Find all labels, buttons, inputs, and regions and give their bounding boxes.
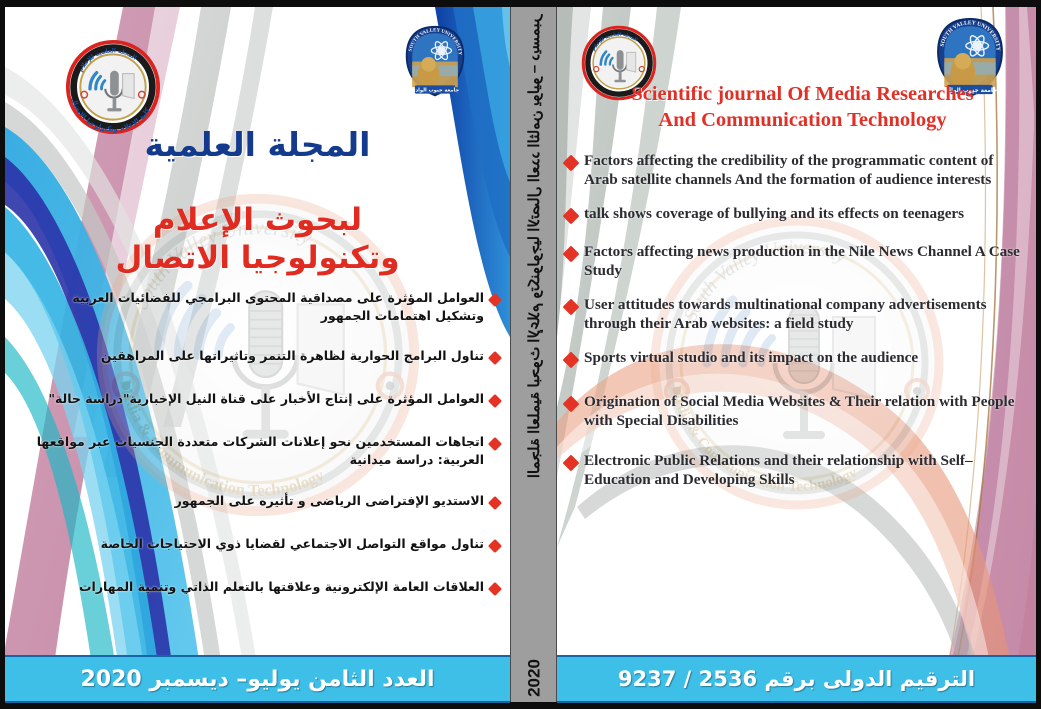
arabic-contents-item-label: تناول البرامج الحوارية لظاهرة التنمر وتا…	[101, 347, 484, 365]
english-contents-item: Origination of Social Media Websites & T…	[565, 393, 1022, 430]
issn-label: الترقيم الدولى برقم 2536 / 9237	[618, 667, 975, 691]
arabic-contents-item: الاستديو الإفتراضى الرياضى و تأثيره على …	[23, 492, 500, 513]
arabic-contents-item-label: العوامل المؤثرة على مصداقية المحتوى البر…	[23, 289, 484, 325]
arabic-contents-item-label: تناول مواقع التواصل الاجتماعي لقضايا ذوي…	[101, 535, 484, 553]
spine-title: المجلة العلمية لبحوث الإعلام وتكنولوجيا …	[527, 15, 542, 478]
journal-cover: South Valley University Media & Communic…	[0, 0, 1041, 709]
diamond-bullet-icon	[490, 538, 500, 556]
arabic-contents-item: العوامل المؤثرة على إنتاج الأخبار على قن…	[23, 390, 500, 411]
english-contents-item-label: talk shows coverage of bullying and its …	[584, 205, 964, 224]
diamond-bullet-icon	[490, 436, 500, 454]
arabic-contents-item-label: الاستديو الإفتراضى الرياضى و تأثيره على …	[175, 492, 484, 510]
faculty-logo-back: المجلة العلمية للإعلام كلية الإعلام وتكن…	[65, 39, 161, 135]
english-journal-title: Scientific journal Of Media Researches A…	[587, 81, 1018, 133]
diamond-bullet-icon	[565, 300, 577, 318]
arabic-contents-item: اتجاهات المستخدمين نحو إعلانات الشركات م…	[23, 433, 500, 469]
back-cover-footer-bar: العدد الثامن يوليو– ديسمبر 2020	[5, 655, 510, 703]
diamond-bullet-icon	[565, 247, 577, 265]
diamond-bullet-icon	[490, 581, 500, 599]
english-contents-item: Sports virtual studio and its impact on …	[565, 349, 1022, 371]
arabic-subtitle-line2: وتكنولوجيا الاتصال	[5, 240, 510, 278]
english-contents-item-label: Sports virtual studio and its impact on …	[584, 349, 918, 368]
diamond-bullet-icon	[490, 393, 500, 411]
arabic-contents-item: العلاقات العامة الإلكترونية وعلاقتها بال…	[23, 578, 500, 599]
english-contents-item-label: User attitudes towards multinational com…	[584, 296, 1022, 333]
english-contents-item: Electronic Public Relations and their re…	[565, 452, 1022, 489]
english-title-line1: Scientific journal Of Media Researches	[587, 81, 1018, 107]
english-contents-item-label: Origination of Social Media Websites & T…	[584, 393, 1022, 430]
book-spine: المجلة العلمية لبحوث الإعلام وتكنولوجيا …	[510, 7, 557, 702]
english-contents-item: talk shows coverage of bullying and its …	[565, 205, 1022, 227]
english-contents-item: Factors affecting news production in the…	[565, 243, 1022, 280]
front-cover-panel: South Valley University Media & Communic…	[557, 7, 1036, 702]
university-logo-back: SOUTH VALLEY UNIVERSITY جامعة جنوب الواد…	[403, 25, 467, 99]
english-contents-item-label: Factors affecting news production in the…	[584, 243, 1022, 280]
arabic-contents-list: العوامل المؤثرة على مصداقية المحتوى البر…	[23, 289, 500, 621]
back-cover-panel: South Valley University Media & Communic…	[5, 7, 510, 702]
diamond-bullet-icon	[565, 209, 577, 227]
diamond-bullet-icon	[565, 353, 577, 371]
arabic-contents-item-label: اتجاهات المستخدمين نحو إعلانات الشركات م…	[23, 433, 484, 469]
diamond-bullet-icon	[490, 292, 500, 310]
arabic-subtitle-line1: لبحوث الإعلام	[5, 202, 510, 240]
issue-date-label: العدد الثامن يوليو– ديسمبر 2020	[81, 667, 435, 692]
arabic-contents-item: تناول مواقع التواصل الاجتماعي لقضايا ذوي…	[23, 535, 500, 556]
spine-year: 2020	[525, 655, 545, 702]
diamond-bullet-icon	[565, 156, 577, 174]
english-title-line2: And Communication Technology	[587, 107, 1018, 133]
arabic-journal-subtitle: لبحوث الإعلام وتكنولوجيا الاتصال	[5, 202, 510, 278]
english-contents-item: Factors affecting the credibility of the…	[565, 152, 1022, 189]
diamond-bullet-icon	[490, 495, 500, 513]
english-contents-item: User attitudes towards multinational com…	[565, 296, 1022, 333]
arabic-contents-item: العوامل المؤثرة على مصداقية المحتوى البر…	[23, 289, 500, 325]
arabic-contents-item: تناول البرامج الحوارية لظاهرة التنمر وتا…	[23, 347, 500, 368]
svg-text:جامعة جنوب الوادي: جامعة جنوب الوادي	[411, 88, 460, 94]
english-contents-list: Factors affecting the credibility of the…	[565, 152, 1022, 505]
english-contents-item-label: Factors affecting the credibility of the…	[584, 152, 1022, 189]
arabic-journal-title: المجلة العلمية	[5, 125, 510, 164]
arabic-contents-item-label: العلاقات العامة الإلكترونية وعلاقتها بال…	[79, 578, 484, 596]
diamond-bullet-icon	[490, 350, 500, 368]
front-cover-footer-bar: الترقيم الدولى برقم 2536 / 9237	[557, 655, 1036, 703]
arabic-contents-item-label: العوامل المؤثرة على إنتاج الأخبار على قن…	[48, 390, 484, 408]
diamond-bullet-icon	[565, 456, 577, 474]
english-contents-item-label: Electronic Public Relations and their re…	[584, 452, 1022, 489]
diamond-bullet-icon	[565, 397, 577, 415]
spine-text-wrap: المجلة العلمية لبحوث الإعلام وتكنولوجيا …	[511, 15, 557, 655]
